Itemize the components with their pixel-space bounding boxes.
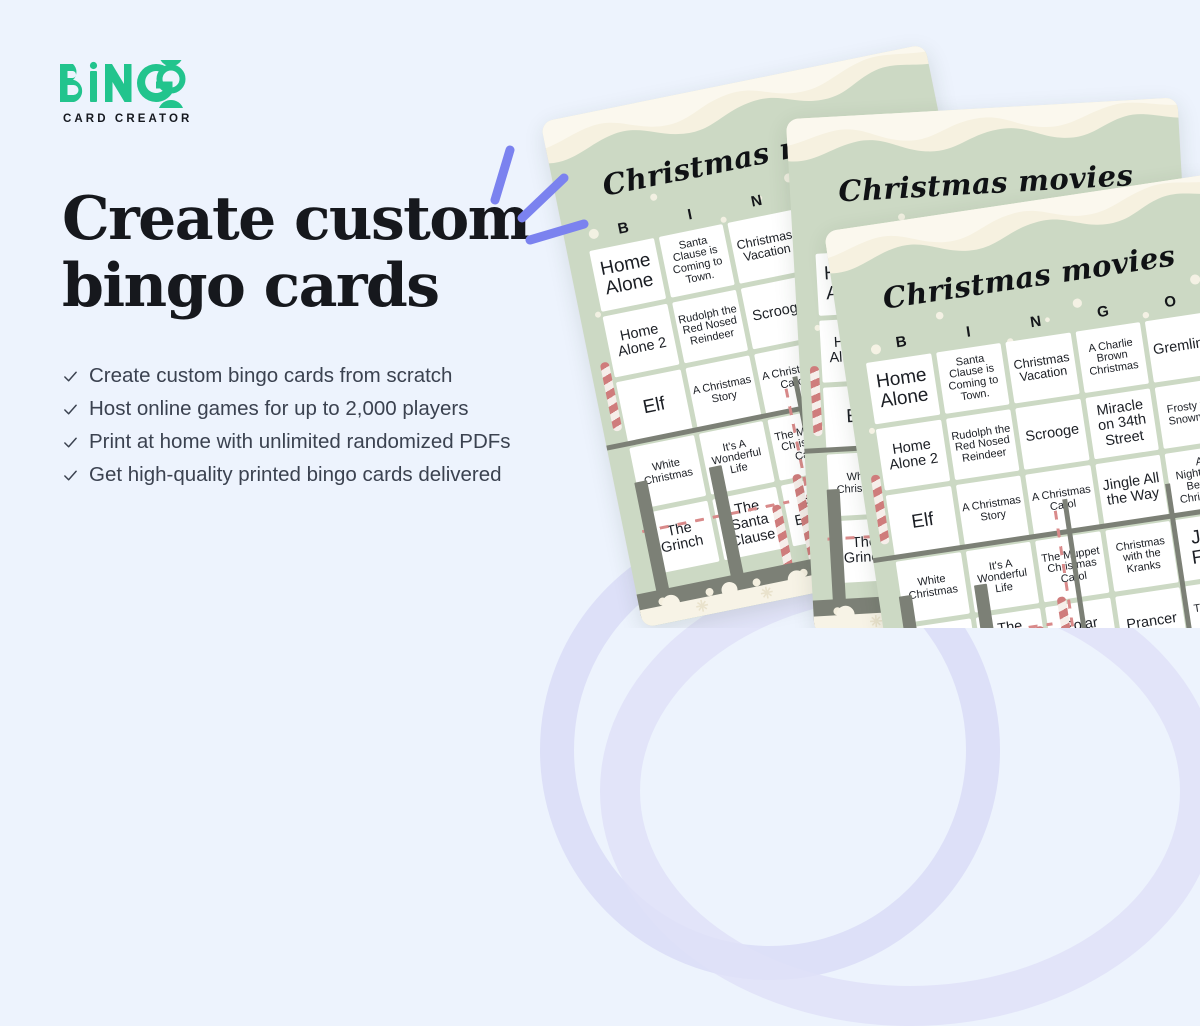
- bingo-cell[interactable]: Santa Clause is Coming to Town.: [658, 224, 735, 298]
- bingo-cell[interactable]: Rudolph the Red Nosed Reindeer: [946, 409, 1020, 480]
- bingo-card-front[interactable]: Christmas movies BINGO Home AloneSanta C…: [824, 174, 1200, 628]
- check-icon: [63, 435, 78, 450]
- feature-item: Host online games for up to 2,000 player…: [63, 393, 511, 426]
- bingo-cell[interactable]: Scrooge: [1015, 399, 1089, 470]
- bingo-cell[interactable]: Miracle on 34th Street: [1085, 388, 1159, 459]
- bingo-letter-n: N: [1001, 309, 1071, 336]
- brand-subtitle: CARD CREATOR: [63, 113, 192, 125]
- bingo-cell[interactable]: Home Alone: [866, 353, 940, 424]
- feature-label: Create custom bingo cards from scratch: [89, 366, 452, 387]
- feature-label: Host online games for up to 2,000 player…: [89, 399, 468, 420]
- bingo-cell[interactable]: Home Alone 2: [876, 420, 950, 491]
- bingo-cell[interactable]: Prancer: [1115, 587, 1189, 628]
- logo-sparkle-icon-bottom: [154, 92, 188, 108]
- bingo-cell[interactable]: It's A Wonderful Life: [698, 421, 775, 495]
- bingo-cell[interactable]: Christmas with the Kranks: [1105, 521, 1179, 592]
- check-icon: [63, 369, 78, 384]
- logo-sparkle-icon: [154, 60, 188, 94]
- headline-line-2: bingo cards: [62, 253, 582, 320]
- brand-logo[interactable]: CARD CREATOR: [60, 60, 192, 125]
- bingo-letter-b: B: [866, 329, 936, 356]
- bingo-cell[interactable]: A Charlie Brown Christmas: [1075, 322, 1149, 393]
- feature-label: Print at home with unlimited randomized …: [89, 432, 511, 453]
- sparkle-decor-icon: [482, 140, 592, 245]
- feature-label: Get high-quality printed bingo cards del…: [89, 465, 502, 486]
- bingo-cell[interactable]: Rudolph the Red Nosed Reindeer: [672, 290, 749, 364]
- feature-list: Create custom bingo cards from scratchHo…: [63, 360, 511, 492]
- bingo-cell[interactable]: Home Alone: [589, 238, 666, 312]
- check-icon: [63, 402, 78, 417]
- bingo-letter-i: I: [934, 319, 1004, 346]
- candy-cane-decor: [810, 366, 823, 436]
- bingo-cell[interactable]: Santa Clause is Coming to Town.: [936, 343, 1010, 414]
- feature-item: Create custom bingo cards from scratch: [63, 360, 511, 393]
- feature-item: Get high-quality printed bingo cards del…: [63, 459, 511, 492]
- check-icon: [63, 468, 78, 483]
- bingo-cell[interactable]: Christmas Vacation: [1006, 332, 1080, 403]
- bingo-cell[interactable]: Gremlins: [1145, 312, 1200, 383]
- bingo-letter-g: G: [1068, 299, 1138, 326]
- bingo-grid[interactable]: Home AloneSanta Clause is Coming to Town…: [866, 312, 1200, 628]
- bingo-cell[interactable]: Frosty the Snowman: [1155, 378, 1200, 449]
- bingo-cell[interactable]: Home Alone 2: [603, 304, 680, 378]
- bingo-letter-o: O: [1135, 288, 1200, 315]
- feature-item: Print at home with unlimited randomized …: [63, 426, 511, 459]
